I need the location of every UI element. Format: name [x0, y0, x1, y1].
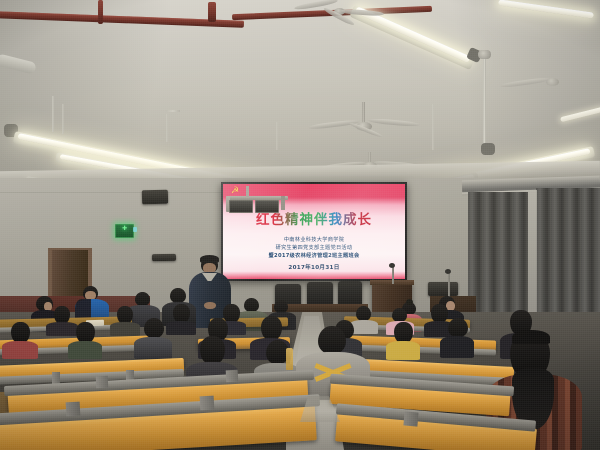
projector-unit-right: [255, 200, 279, 213]
fan-hub: [546, 78, 559, 86]
light-fixture-right1-cap: [481, 143, 495, 155]
head: [76, 322, 95, 342]
slide-date: 2017年10月31日: [223, 263, 405, 271]
light-hanger-wire: [166, 110, 180, 112]
presenter-hands: [204, 302, 216, 309]
torso: [440, 336, 474, 358]
head: [144, 318, 164, 338]
microphone-stand[interactable]: [392, 266, 394, 284]
desk-rail-bracket: [96, 376, 109, 389]
hair-cap: [512, 330, 550, 344]
slide-subtitle-line-1: 中南林业科技大学商学院: [223, 237, 405, 244]
head: [356, 306, 371, 321]
light-hanger-wire: [276, 122, 278, 150]
slide-subtitle-line-3: 暨2017级农林经济管理2班主题班会: [223, 253, 405, 260]
wall-speaker-left: [142, 190, 168, 205]
ceiling-pipe-drop: [98, 0, 103, 24]
wall-seam-line: [0, 192, 226, 193]
slide-subtitle-line-2: 研究生第四党支部主题党日活动: [223, 245, 405, 252]
ceiling-fan-mid: [302, 98, 422, 134]
ceiling-pipe-t-joint: [208, 2, 216, 22]
projector-ceiling-drop: [246, 186, 249, 198]
light-pendant-rod-right: [483, 56, 486, 148]
head: [54, 306, 70, 323]
audience-member: [2, 322, 38, 356]
audience-member: [134, 318, 172, 358]
exit-sign-glyph: ✚: [116, 225, 133, 233]
light-pendant-canopy-right: [478, 50, 491, 59]
head: [392, 308, 407, 322]
ceiling-fan-far-left: [296, 0, 382, 30]
desk-rail-bracket: [226, 370, 239, 383]
light-hanger-wire: [432, 104, 434, 150]
torso: [2, 341, 38, 359]
fan-blade: [368, 118, 420, 128]
desk-rail-bracket: [66, 402, 81, 417]
fan-blade: [500, 77, 550, 89]
torso: [134, 337, 172, 359]
exit-sign-icon: ✚: [115, 224, 134, 238]
microphone-head-icon: [389, 263, 395, 268]
fan-rod: [362, 102, 365, 124]
head: [200, 336, 225, 363]
desk-leg: [52, 372, 60, 384]
microphone-head-secondary-icon: [445, 269, 451, 274]
light-hanger-wire: [62, 104, 64, 134]
ceiling-fan-right-edge: [500, 72, 600, 98]
head: [394, 322, 413, 342]
head: [244, 298, 259, 312]
fan-blade: [340, 8, 384, 16]
wall-speaker-right: [428, 282, 458, 296]
water-bottle: [286, 348, 293, 370]
presenter-cap: [200, 255, 219, 263]
head: [135, 292, 150, 306]
head: [318, 326, 346, 354]
head: [261, 316, 282, 339]
light-hanger-wire: [166, 114, 168, 142]
exit-sign-side-lamp: [133, 227, 137, 232]
hair-bun: [406, 299, 413, 305]
head-with-cap: [448, 318, 468, 337]
head: [117, 306, 133, 323]
audience-member: [440, 318, 474, 358]
desk-rail-bracket: [403, 411, 418, 426]
classroom-photo-scene: ✚ ☭ 红色精神伴我成长 中南林业科技大学商学院 研究生第四党支部主题党日活动 …: [0, 0, 600, 450]
audience-member: [386, 322, 420, 358]
projector-mount-post: [281, 196, 285, 210]
wall-speaker-center: [152, 254, 176, 261]
head: [170, 288, 186, 303]
light-hanger-wire: [52, 96, 54, 132]
projector-unit-left: [229, 200, 253, 213]
audience-member: [68, 322, 102, 356]
microphone-stand-secondary[interactable]: [448, 272, 450, 298]
desk-rail-bracket: [200, 396, 215, 411]
head: [173, 304, 190, 322]
head: [11, 322, 30, 342]
torso: [386, 341, 420, 360]
torso: [68, 341, 102, 359]
